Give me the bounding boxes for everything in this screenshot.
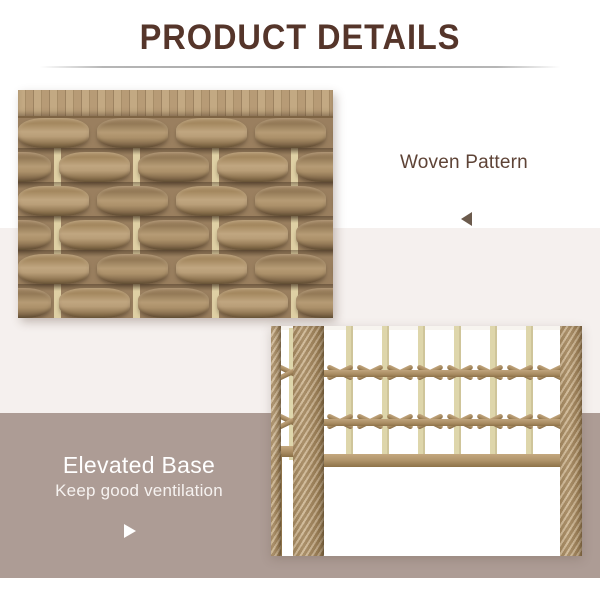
frame-rail-middle <box>324 419 560 426</box>
woven-strap <box>217 220 288 250</box>
left-triangle-arrow-icon <box>461 212 472 226</box>
woven-strap-row <box>18 118 333 152</box>
elevated-base-frame-image <box>271 326 582 556</box>
woven-strap <box>18 254 89 284</box>
header-divider <box>40 66 560 68</box>
frame-rail-bottom <box>324 454 567 467</box>
product-details-infographic: PRODUCT DETAILS Woven Pattern Elevated B… <box>0 0 600 600</box>
woven-strap <box>255 186 326 216</box>
woven-strap <box>18 186 89 216</box>
woven-strap <box>138 152 209 182</box>
woven-strap <box>217 152 288 182</box>
woven-strap <box>59 288 130 318</box>
elevated-base-subtitle: Keep good ventilation <box>0 481 278 501</box>
woven-strap <box>59 152 130 182</box>
woven-strap <box>296 152 333 182</box>
right-triangle-arrow-icon <box>124 524 136 538</box>
frame-vertical-slats <box>324 326 560 466</box>
woven-rattan-closeup-image <box>18 90 333 318</box>
elevated-base-title: Elevated Base <box>0 452 278 479</box>
background-band-bottom-white <box>0 578 600 600</box>
woven-top-trim-band <box>18 90 333 118</box>
woven-strap <box>18 118 89 148</box>
woven-strap-row <box>18 254 333 288</box>
page-title: PRODUCT DETAILS <box>21 18 579 58</box>
woven-strap <box>18 152 51 182</box>
frame-post-right <box>560 326 582 556</box>
frame-post-corner <box>293 326 324 556</box>
woven-strap <box>176 118 247 148</box>
woven-strap-row <box>18 186 333 220</box>
woven-strap <box>138 220 209 250</box>
frame-post-front-left <box>271 326 281 556</box>
woven-strap <box>296 220 333 250</box>
woven-strap <box>217 288 288 318</box>
woven-strap <box>97 254 168 284</box>
woven-strap <box>176 186 247 216</box>
woven-strap <box>296 288 333 318</box>
woven-strap-row <box>18 152 333 186</box>
woven-strap-row <box>18 220 333 254</box>
woven-strap <box>255 254 326 284</box>
woven-strap <box>255 118 326 148</box>
woven-strap <box>59 220 130 250</box>
woven-strap-row <box>18 288 333 318</box>
woven-strap <box>176 254 247 284</box>
woven-pattern-label: Woven Pattern <box>400 152 528 174</box>
woven-strap <box>97 186 168 216</box>
woven-strap <box>97 118 168 148</box>
woven-strap <box>18 220 51 250</box>
woven-strap <box>138 288 209 318</box>
woven-strap <box>18 288 51 318</box>
frame-rail-top <box>324 370 560 377</box>
